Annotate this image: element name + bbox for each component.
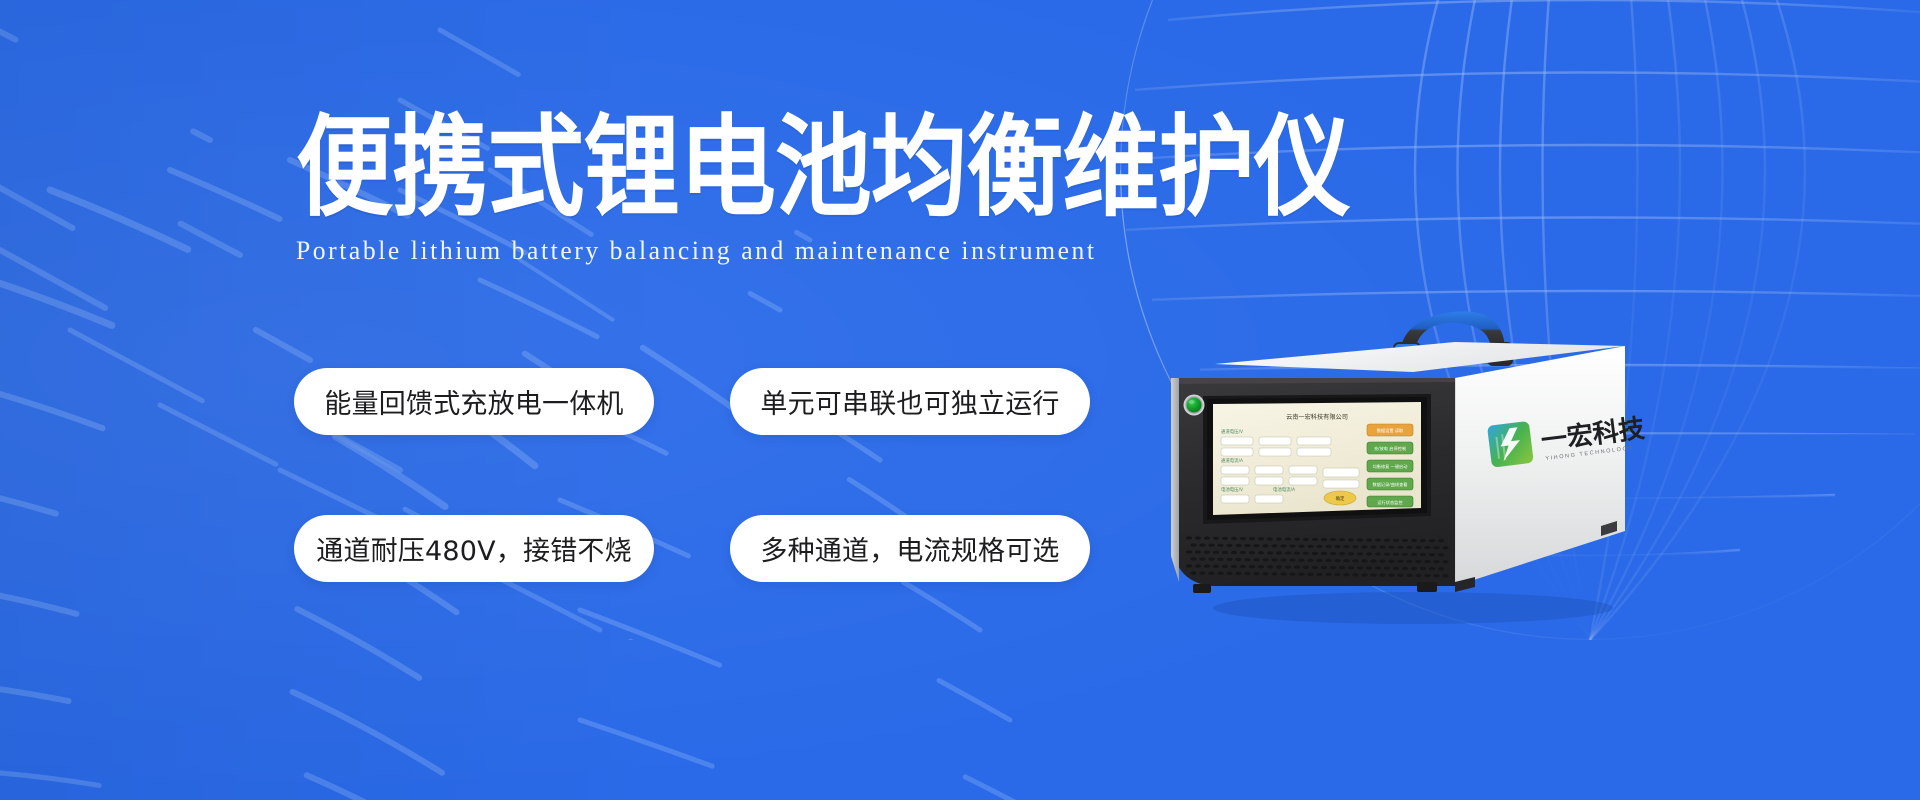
svg-text:均衡修复 一键启动: 均衡修复 一键启动 (1373, 463, 1408, 470)
product-image: 一宏科技 YIHONG TECHNOLOGY 云南一宏科技有限公司 通道电压/V… (1155, 286, 1655, 636)
svg-text:充/放电 启停控制: 充/放电 启停控制 (1374, 445, 1406, 452)
screen-title: 云南一宏科技有限公司 (1286, 413, 1348, 421)
svg-text:数据记录/曲线查看: 数据记录/曲线查看 (1373, 481, 1408, 488)
hero-text-block: 便携式锂电池均衡维护仪 Portable lithium battery bal… (296, 112, 1116, 266)
device-screen: 云南一宏科技有限公司 通道电压/V 通道电流/A 电池电压/V 电池电流/A (1213, 402, 1421, 515)
feature-pill-label: 多种通道，电流规格可选 (760, 529, 1059, 568)
feature-pill-list: 能量回馈式充放电一体机 单元可串联也可独立运行 通道耐压480V，接错不烧 多种… (294, 368, 1090, 582)
svg-text:通道电流/A: 通道电流/A (1221, 457, 1243, 464)
svg-text:通道电压/V: 通道电压/V (1221, 428, 1243, 435)
svg-text:数据设置 读取: 数据设置 读取 (1377, 427, 1404, 434)
feature-pill[interactable]: 多种通道，电流规格可选 (730, 515, 1090, 582)
feature-pill-label: 通道耐压480V，接错不烧 (316, 529, 632, 568)
page-title: 便携式锂电池均衡维护仪 (296, 112, 1059, 222)
page-subtitle: Portable lithium battery balancing and m… (296, 236, 1104, 266)
power-button[interactable] (1184, 395, 1205, 416)
feature-pill-label: 单元可串联也可独立运行 (760, 382, 1059, 421)
svg-text:电池电压/V: 电池电压/V (1221, 486, 1243, 493)
feature-pill[interactable]: 通道耐压480V，接错不烧 (294, 515, 654, 582)
svg-text:运行状态监控: 运行状态监控 (1377, 499, 1403, 506)
screen-confirm-label: 确定 (1336, 495, 1345, 502)
feature-pill[interactable]: 单元可串联也可独立运行 (730, 368, 1090, 435)
feature-pill-label: 能量回馈式充放电一体机 (324, 382, 623, 421)
promo-banner: 便携式锂电池均衡维护仪 Portable lithium battery bal… (0, 0, 1920, 800)
feature-pill[interactable]: 能量回馈式充放电一体机 (294, 368, 654, 435)
svg-text:电池电流/A: 电池电流/A (1273, 486, 1295, 493)
